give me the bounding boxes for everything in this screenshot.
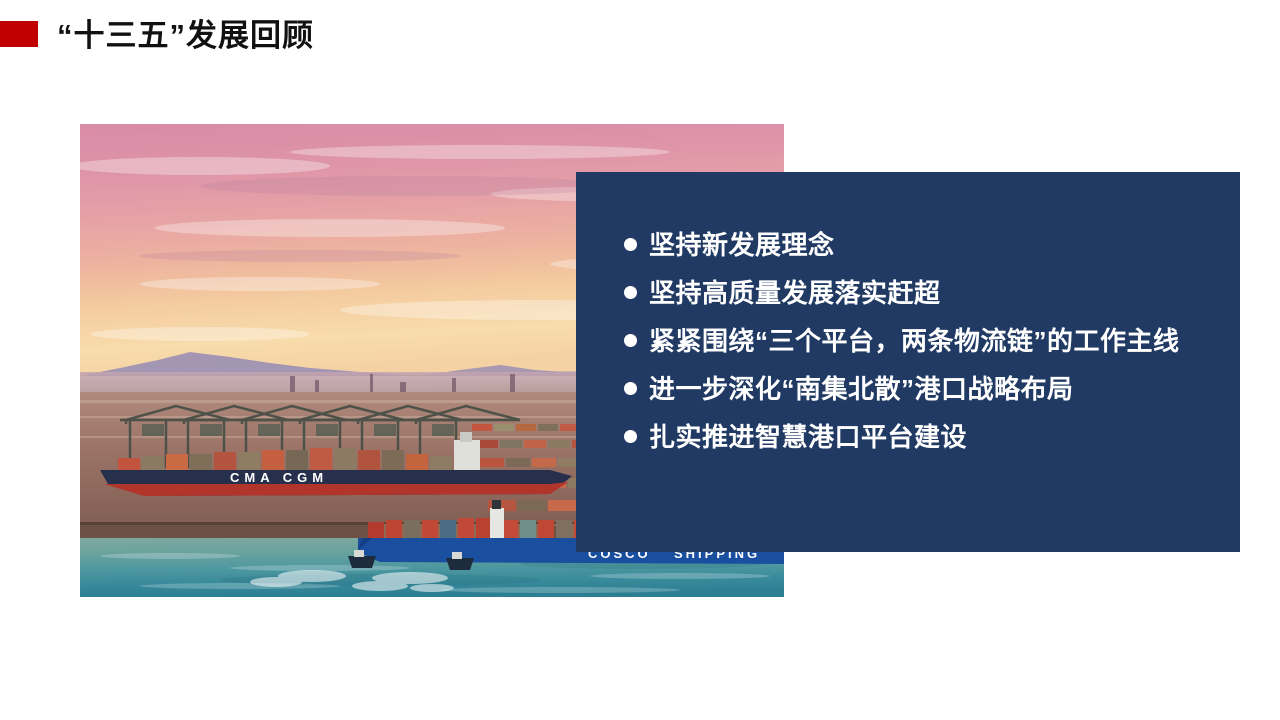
bullet-text: 坚持高质量发展落实赶超 xyxy=(649,278,941,308)
list-item: 坚持高质量发展落实赶超 xyxy=(624,278,1232,326)
bullet-dot-icon xyxy=(624,334,637,347)
content-panel: 坚持新发展理念 坚持高质量发展落实赶超 紧紧围绕“三个平台，两条物流链”的工作主… xyxy=(576,172,1240,552)
bullet-dot-icon xyxy=(624,286,637,299)
bullet-list: 坚持新发展理念 坚持高质量发展落实赶超 紧紧围绕“三个平台，两条物流链”的工作主… xyxy=(624,230,1232,470)
svg-text:CMA CGM: CMA CGM xyxy=(230,470,328,485)
slide-canvas: “十三五”发展回顾 xyxy=(0,0,1280,720)
page-title: “十三五”发展回顾 xyxy=(57,18,314,54)
bullet-text: 紧紧围绕“三个平台，两条物流链”的工作主线 xyxy=(649,326,1180,356)
bullet-text: 扎实推进智慧港口平台建设 xyxy=(649,422,967,452)
list-item: 扎实推进智慧港口平台建设 xyxy=(624,422,1232,470)
title-accent-marker xyxy=(0,21,38,47)
list-item: 进一步深化“南集北散”港口战略布局 xyxy=(624,374,1232,422)
list-item: 紧紧围绕“三个平台，两条物流链”的工作主线 xyxy=(624,326,1232,374)
bullet-dot-icon xyxy=(624,382,637,395)
bullet-text: 进一步深化“南集北散”港口战略布局 xyxy=(649,374,1074,404)
list-item: 坚持新发展理念 xyxy=(624,230,1232,278)
bullet-dot-icon xyxy=(624,238,637,251)
bullet-text: 坚持新发展理念 xyxy=(649,230,835,260)
bullet-dot-icon xyxy=(624,430,637,443)
